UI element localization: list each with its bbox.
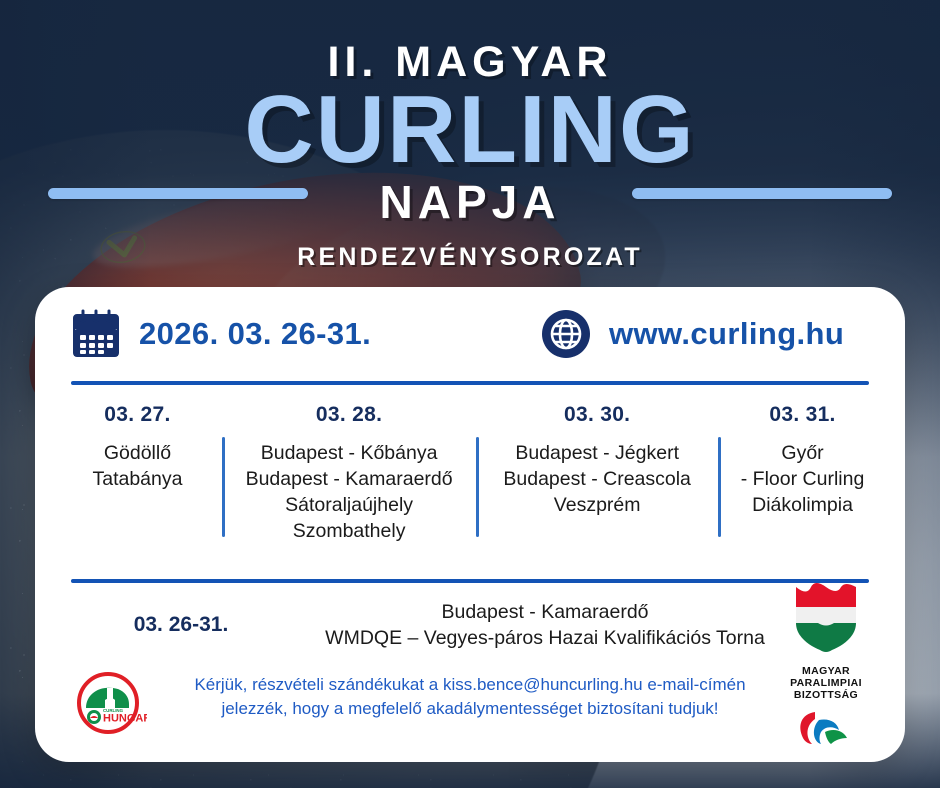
event-date-block: 2026. 03. 26-31. [71, 309, 541, 359]
venue-item: Budapest - Creascola [484, 467, 710, 493]
schedule-date-4: 03. 31. [726, 403, 879, 427]
featured-date: 03. 26-31. [71, 613, 291, 637]
schedule-column-4: 03. 31. Győr - Floor Curling Diákolimpia [718, 403, 887, 545]
featured-line-1: Budapest - Kamaraerdő [291, 599, 799, 625]
note-line-1: Kérjük, részvételi szándékukat a kiss.be… [155, 673, 785, 696]
schedule-column-1: 03. 27. Gödöllő Tatabánya [53, 403, 222, 545]
schedule-venues-1: Gödöllő Tatabánya [61, 441, 214, 493]
schedule-venues-3: Budapest - Jégkert Budapest - Creascola … [484, 441, 710, 519]
event-date-text: 2026. 03. 26-31. [139, 316, 371, 352]
website-block[interactable]: www.curling.hu [541, 309, 844, 359]
schedule-grid: 03. 27. Gödöllő Tatabánya 03. 28. Budape… [35, 385, 905, 545]
venue-item: Szombathely [230, 519, 468, 545]
paralympic-agitos-icon [795, 708, 857, 748]
globe-icon [541, 309, 591, 359]
venue-item: Gödöllő [61, 441, 214, 467]
column-divider [718, 437, 721, 537]
poster-header: II. MAGYAR CURLING NAPJA RENDEZVÉNYSOROZ… [0, 0, 940, 272]
mpb-caption-line-2: PARALIMPIAI [773, 677, 879, 689]
venue-item: Tatabánya [61, 467, 214, 493]
poster-root: II. MAGYAR CURLING NAPJA RENDEZVÉNYSOROZ… [0, 0, 940, 788]
info-card: 2026. 03. 26-31. www.curling.hu 03. 27. … [35, 287, 905, 762]
featured-line-2: WMDQE – Vegyes-páros Hazai Kvalifikációs… [291, 625, 799, 651]
schedule-date-2: 03. 28. [230, 403, 468, 427]
svg-text:HUNGARY: HUNGARY [103, 713, 147, 725]
venue-item: Győr [726, 441, 879, 467]
venue-item: - Floor Curling [726, 467, 879, 493]
website-text[interactable]: www.curling.hu [609, 316, 844, 352]
schedule-venues-2: Budapest - Kőbánya Budapest - Kamaraerdő… [230, 441, 468, 545]
title-sub: NAPJA [0, 175, 940, 229]
title-main: CURLING [0, 81, 940, 179]
venue-item: Budapest - Kamaraerdő [230, 467, 468, 493]
venue-item: Budapest - Kőbánya [230, 441, 468, 467]
magyar-paralimpiai-bizottsag-logo: MAGYAR PARALIMPIAI BIZOTTSÁG [773, 583, 879, 749]
schedule-column-3: 03. 30. Budapest - Jégkert Budapest - Cr… [476, 403, 718, 545]
hungarian-shield-icon [790, 583, 862, 657]
schedule-date-3: 03. 30. [484, 403, 710, 427]
decorative-rule-left [48, 188, 308, 199]
schedule-venues-4: Győr - Floor Curling Diákolimpia [726, 441, 879, 519]
mpb-caption-line-1: MAGYAR [773, 665, 879, 677]
title-tagline: RENDEZVÉNYSOROZAT [0, 243, 940, 272]
venue-item: Diákolimpia [726, 493, 879, 519]
curling-hungary-logo: HUNGARY CURLING [69, 672, 147, 734]
schedule-date-1: 03. 27. [61, 403, 214, 427]
accessibility-note: Kérjük, részvételi szándékukat a kiss.be… [155, 673, 785, 720]
venue-item: Veszprém [484, 493, 710, 519]
schedule-column-2: 03. 28. Budapest - Kőbánya Budapest - Ka… [222, 403, 476, 545]
info-row: 2026. 03. 26-31. www.curling.hu [35, 287, 905, 359]
calendar-icon [71, 309, 121, 359]
mpb-caption-line-3: BIZOTTSÁG [773, 689, 879, 701]
mpb-caption: MAGYAR PARALIMPIAI BIZOTTSÁG [773, 665, 879, 702]
venue-item: Budapest - Jégkert [484, 441, 710, 467]
venue-item: Sátoraljaújhely [230, 493, 468, 519]
note-line-2: jelezzék, hogy a megfelelő akadálymentes… [155, 697, 785, 720]
column-divider [476, 437, 479, 537]
svg-text:CURLING: CURLING [103, 708, 124, 713]
decorative-rule-right [632, 188, 892, 199]
column-divider [222, 437, 225, 537]
